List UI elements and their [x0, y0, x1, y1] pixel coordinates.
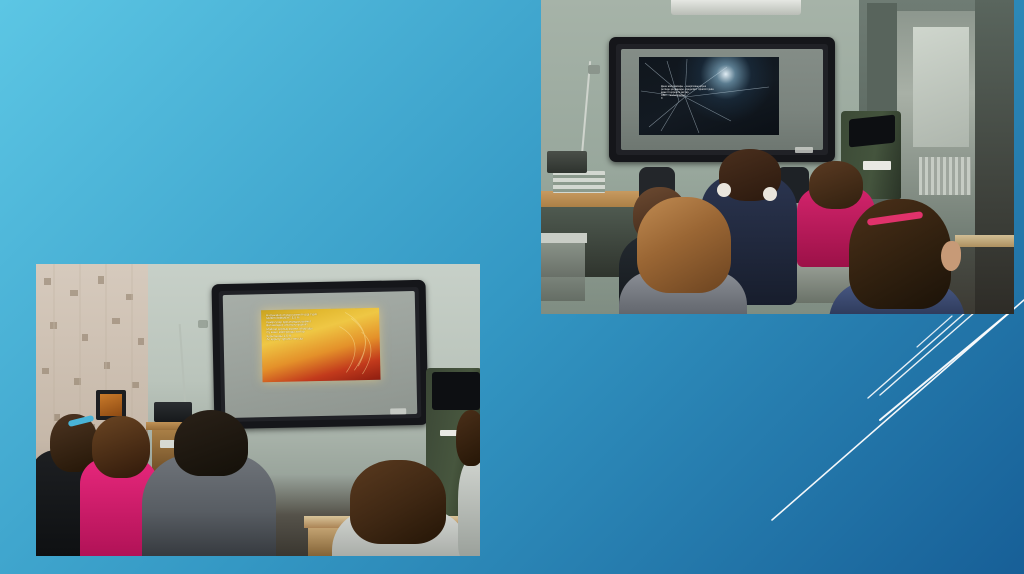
presentation-slide: Дене жасушалары – энергияны қорек ретінд… [0, 0, 1024, 574]
hair-tie-left [717, 183, 731, 197]
whiteboard-screen: Дене жасушалары – энергияны қорек ретінд… [621, 49, 823, 150]
computer-monitor-screen [100, 394, 122, 416]
diagonal-streak-4 [868, 312, 966, 398]
student-head-far-right [456, 410, 480, 466]
projected-slide-text: Нәруыздар ағзада қызметтерді түрлі МИКРО… [266, 312, 363, 342]
student-far-right-body [458, 460, 480, 556]
projected-slide-orange: Нәруыздар ағзада қызметтерді түрлі МИКРО… [261, 308, 380, 382]
whiteboard-logo [390, 408, 406, 414]
desk-left-row [541, 233, 587, 243]
projected-slide-dark-burst: Дене жасушалары – энергияны қорек ретінд… [639, 57, 779, 135]
photo-classroom-interactive-whiteboard-top-right: Дене жасушалары – энергияны қорек ретінд… [541, 0, 1014, 314]
interactive-whiteboard: Дене жасушалары – энергияны қорек ретінд… [609, 37, 835, 162]
whiteboard-logo [795, 147, 813, 153]
ceiling-light [671, 0, 801, 15]
student-head-brown-ponytail [350, 460, 446, 544]
interactive-whiteboard: Нәруыздар ағзада қызметтерді түрлі МИКРО… [212, 280, 429, 429]
student-head-blonde-front-left [637, 197, 731, 293]
student-head-pink-la [92, 416, 150, 478]
desk-right-front [955, 235, 1014, 247]
hair-tie-right [763, 187, 777, 201]
wall-socket [588, 65, 600, 74]
whiteboard-screen: Нәруыздар ағзада қызметтерді түрлі МИКРО… [223, 291, 418, 418]
diagonal-streak-5 [917, 316, 952, 347]
student-head-pink-la [809, 161, 863, 209]
kiosk-label-plate [863, 161, 891, 170]
ear-front-right [941, 241, 961, 271]
books-stack [553, 171, 605, 193]
desk-left-legs [541, 243, 585, 301]
student-head-grey-hoodie [174, 410, 248, 476]
diagonal-streak-2 [880, 312, 1010, 420]
diagonal-streak-3 [880, 312, 975, 395]
printer-device [547, 151, 587, 173]
kiosk-screen [849, 115, 895, 148]
window-pane [913, 27, 969, 147]
photo-classroom-interactive-whiteboard-bottom-left: Нәруыздар ағзада қызметтерді түрлі МИКРО… [36, 264, 480, 556]
diagonal-streak-1 [772, 300, 1024, 520]
wall-socket [198, 320, 208, 328]
wall-far-right [975, 0, 1014, 314]
kiosk-screen [432, 372, 480, 410]
projected-slide-text: Дене жасушалары – энергияны қорек ретінд… [661, 85, 747, 100]
radiator [919, 157, 971, 195]
